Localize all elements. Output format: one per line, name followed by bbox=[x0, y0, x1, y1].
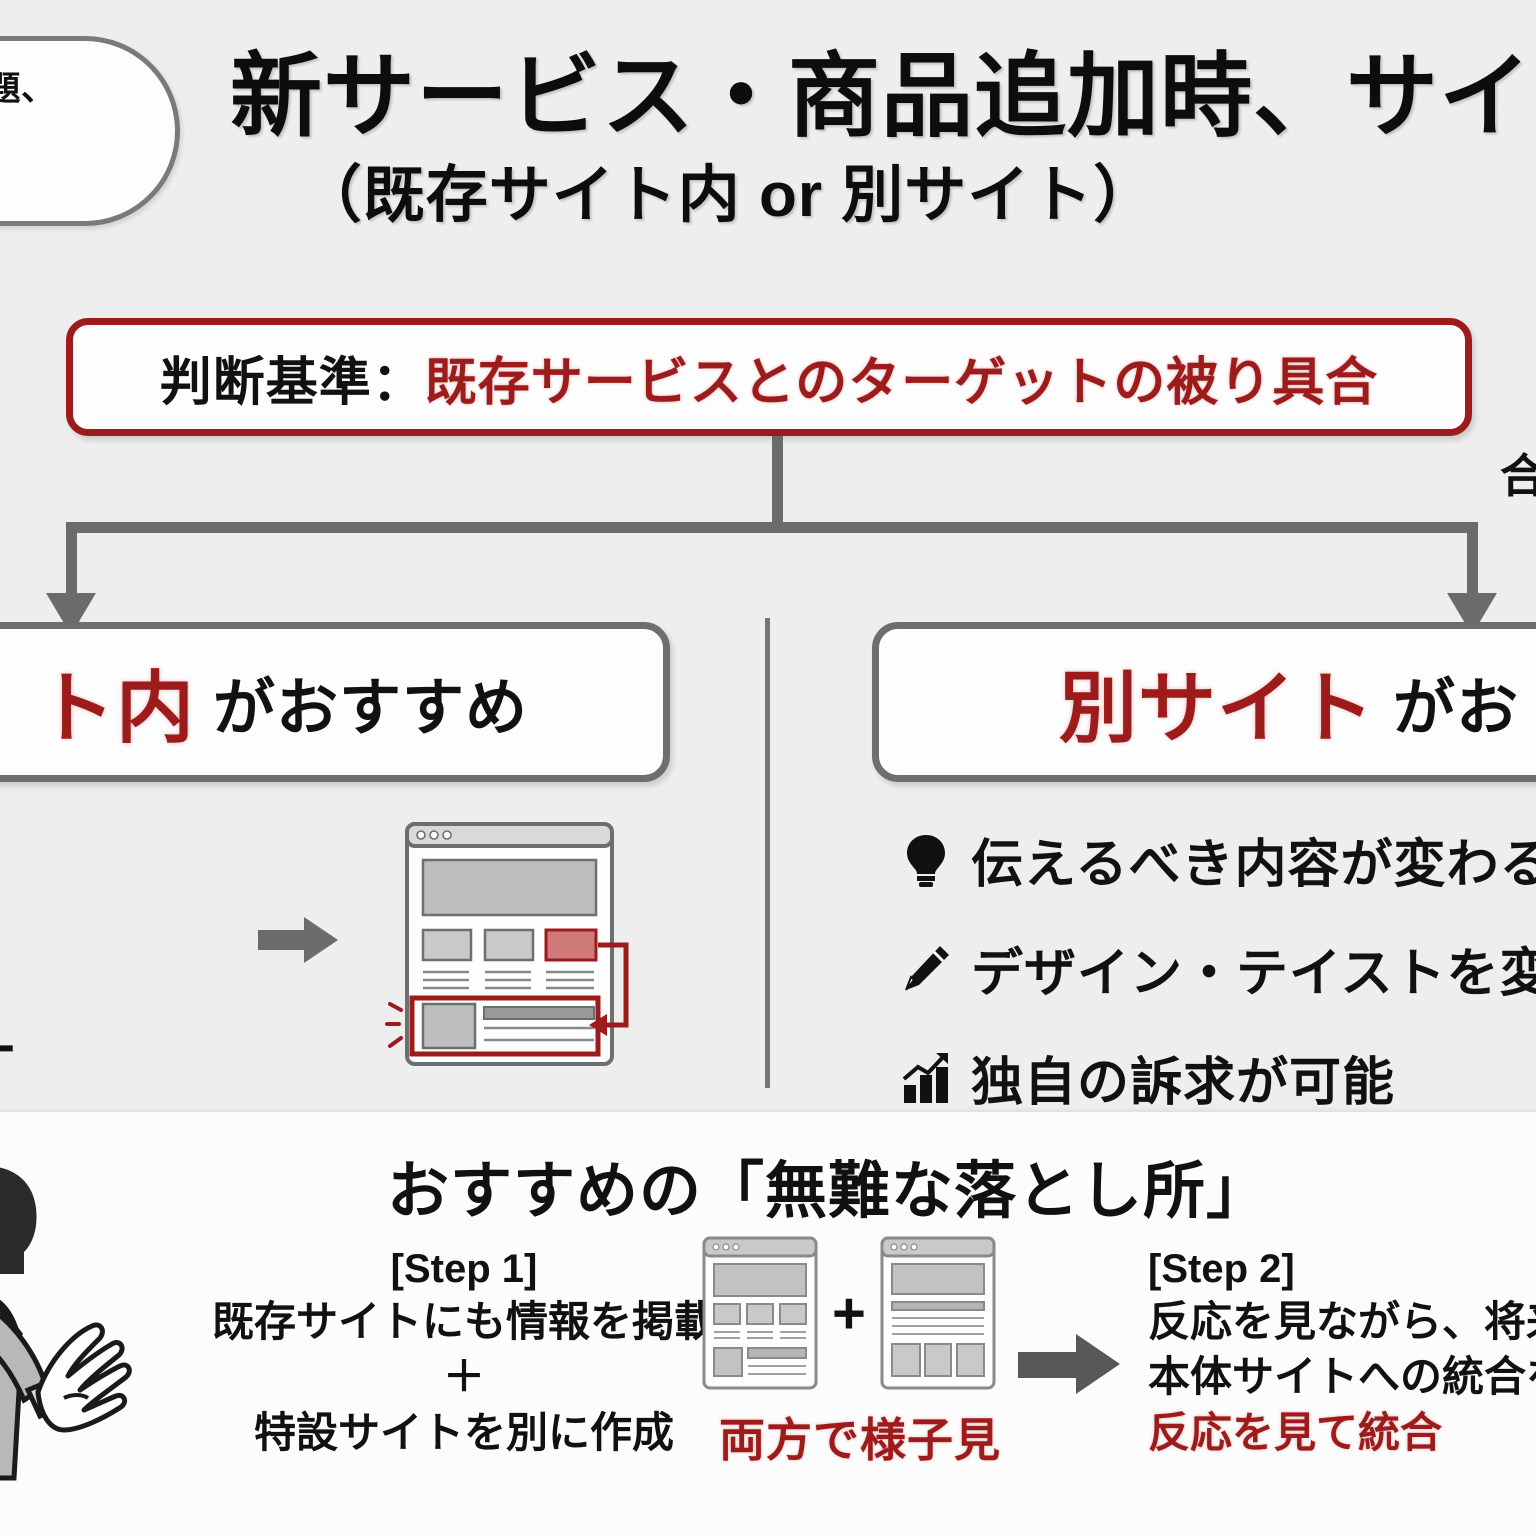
recommendation-box-left: ト内 がおすすめ bbox=[0, 622, 670, 782]
list-item: ストを統一 bbox=[0, 1026, 370, 1078]
branch-arrow-left-icon bbox=[66, 533, 77, 593]
step-1-line-1: 既存サイトにも情報を掲載 bbox=[212, 1294, 716, 1349]
recommendation-box-right: 別サイト がお bbox=[872, 622, 1536, 782]
center-caption: 両方で様子見 bbox=[700, 1404, 1020, 1470]
growth-chart-icon bbox=[895, 1046, 957, 1110]
step-1-line-2: 特設サイトを別に作成 bbox=[212, 1405, 716, 1460]
webpage-mockup-icon bbox=[700, 1234, 820, 1392]
bottom-panel: おすすめの「無難な落とし所」 [Step 1] 既存サイトにも情報を掲載 ＋ 特… bbox=[0, 1112, 1536, 1536]
criteria-label: 判断基準： bbox=[160, 340, 425, 415]
title-subtitle: （既存サイト内 or 別サイト） bbox=[0, 157, 1536, 235]
title-main: 新サービス・商品追加時、サイト bbox=[230, 48, 1536, 147]
connector-vertical bbox=[772, 436, 783, 530]
right-bullet-list: 伝えるべき内容が変わる デザイン・テイストを変更 bbox=[895, 822, 1536, 1149]
list-item: 独自の訴求が可能 bbox=[895, 1040, 1536, 1115]
recommendation-left-rest: がおすすめ bbox=[213, 657, 528, 747]
step-transition-arrow-icon bbox=[1018, 1352, 1076, 1378]
connector-horizontal bbox=[66, 522, 1478, 533]
list-item-label: 伝えるべき内容が変わる bbox=[971, 822, 1536, 897]
branch-arrow-right-icon bbox=[1467, 533, 1478, 593]
step-1-label: [Step 1] bbox=[212, 1244, 716, 1294]
list-item: デザイン・テイストを変更 bbox=[895, 931, 1536, 1006]
recommendation-left-strong: ト内 bbox=[37, 646, 195, 758]
step-2-block: [Step 2] 反応を見ながら、将来 本体サイトへの統合を 反応を見て統合 bbox=[1148, 1244, 1536, 1460]
column-divider bbox=[765, 618, 770, 1088]
infographic-canvas: この問題、 リ です！ 新サービス・商品追加時、サイト （既存サイト内 or 別… bbox=[0, 0, 1536, 1536]
step-1-block: [Step 1] 既存サイトにも情報を掲載 ＋ 特設サイトを別に作成 bbox=[212, 1244, 716, 1460]
step-2-highlight: 反応を見て統合 bbox=[1148, 1405, 1536, 1460]
right-arrow-icon bbox=[258, 930, 304, 950]
webpage-mockup-icon bbox=[878, 1234, 998, 1392]
webpage-mockup-highlight-icon bbox=[385, 812, 635, 1092]
presenter-person-icon bbox=[0, 1148, 168, 1536]
criteria-value: 既存サービスとのターゲットの被り具合 bbox=[425, 340, 1378, 415]
step-2-line-1: 反応を見ながら、将来 bbox=[1148, 1294, 1536, 1349]
pencil-icon bbox=[895, 937, 957, 1001]
criteria-box: 判断基準： 既存サービスとのターゲットの被り具合 bbox=[66, 318, 1472, 436]
list-item-label: 独自の訴求が可能 bbox=[971, 1040, 1395, 1115]
recommendation-right-strong: 別サイト bbox=[1059, 646, 1375, 758]
list-item-label: デザイン・テイストを変更 bbox=[971, 931, 1536, 1006]
bottom-panel-title: おすすめの「無難な落とし所」 bbox=[60, 1140, 1536, 1230]
list-item: 伝えるべき内容が変わる bbox=[895, 822, 1536, 897]
lightbulb-icon bbox=[895, 828, 957, 892]
left-bullet-list: げる 能性あり ストを統一 bbox=[0, 818, 370, 1130]
recommendation-right-rest: がお bbox=[1393, 657, 1519, 747]
page-title: 新サービス・商品追加時、サイト （既存サイト内 or 別サイト） bbox=[0, 48, 1536, 235]
step-1-plus: ＋ bbox=[212, 1349, 716, 1404]
step-2-label: [Step 2] bbox=[1148, 1244, 1536, 1294]
center-mockup-pair: + bbox=[700, 1234, 998, 1392]
center-plus-sign: + bbox=[832, 1280, 866, 1347]
branch-label-right: 合 bbox=[1500, 440, 1536, 506]
step-2-line-2: 本体サイトへの統合を bbox=[1148, 1349, 1536, 1404]
list-item: げる bbox=[0, 818, 370, 870]
